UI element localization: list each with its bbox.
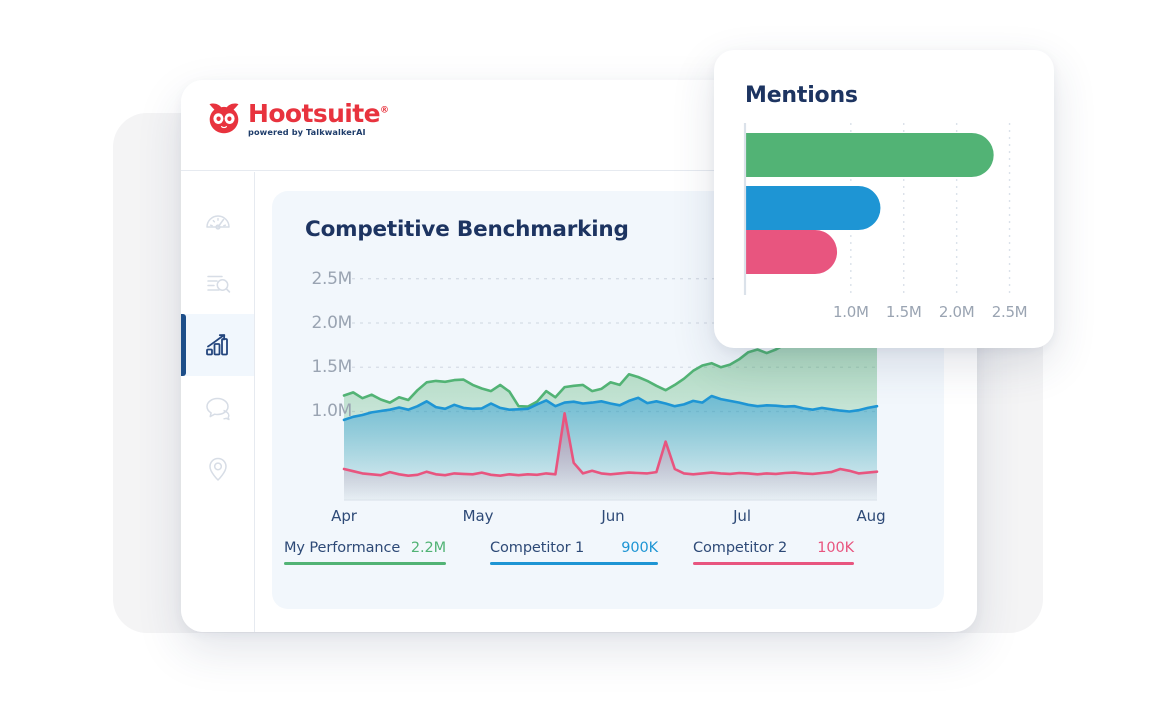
x-axis-tick-label: Aug (857, 507, 886, 525)
legend-series-value: 900K (621, 540, 658, 556)
legend-item[interactable]: Competitor 1900K (490, 540, 658, 565)
sidebar-item-messages[interactable] (181, 376, 254, 438)
legend-series-name: Competitor 1 (490, 540, 584, 556)
legend-color-bar (693, 562, 854, 565)
legend-series-name: Competitor 2 (693, 540, 787, 556)
legend-series-name: My Performance (284, 540, 400, 556)
chat-bubbles-icon (203, 392, 233, 422)
x-axis-tick-label: Jun (601, 507, 624, 525)
legend-color-bar (284, 562, 446, 565)
screenshot-root: Hootsuite® powered by TalkwalkerAI (0, 0, 1160, 710)
registered-mark-icon: ® (380, 106, 388, 116)
legend-item[interactable]: Competitor 2100K (693, 540, 854, 565)
x-axis-tick-label: May (463, 507, 494, 525)
legend-item[interactable]: My Performance2.2M (284, 540, 446, 565)
legend-series-value: 100K (817, 540, 854, 556)
sidebar-item-location[interactable] (181, 438, 254, 500)
owl-logo-icon (207, 102, 241, 135)
mentions-bars (746, 133, 994, 274)
brand-name: Hootsuite® (248, 101, 388, 126)
mentions-bar[interactable] (746, 133, 994, 177)
sidebar-item-analytics[interactable] (181, 314, 254, 376)
mentions-tick-label: 2.0M (939, 303, 975, 321)
mentions-bar-cap (746, 133, 768, 177)
mentions-bar-cap (746, 186, 768, 230)
legend-series-value: 2.2M (411, 540, 446, 556)
x-axis-tick-label: Apr (331, 507, 357, 525)
y-axis-tick-label: 1.0M (311, 401, 352, 421)
mentions-title: Mentions (745, 83, 858, 108)
mentions-bar-cap (746, 230, 768, 274)
sidebar-nav (181, 172, 255, 632)
sidebar-item-search[interactable] (181, 252, 254, 314)
y-axis-tick-label: 2.0M (311, 313, 352, 333)
sidebar-item-dashboard[interactable] (181, 190, 254, 252)
mentions-tick-label: 1.0M (833, 303, 869, 321)
mentions-panel: Mentions 1.0M1.5M2.0M2.5M (714, 50, 1054, 348)
y-axis-tick-label: 1.5M (311, 357, 352, 377)
brand-logo[interactable]: Hootsuite® powered by TalkwalkerAI (207, 101, 388, 136)
location-pin-icon (203, 454, 233, 484)
x-axis-tick-label: Jul (733, 507, 751, 525)
search-list-icon (203, 268, 233, 298)
speedometer-icon (203, 206, 233, 236)
y-axis-tick-label: 2.5M (311, 269, 352, 289)
mentions-tick-label: 2.5M (992, 303, 1028, 321)
mentions-tick-label: 1.5M (886, 303, 922, 321)
brand-tagline: powered by TalkwalkerAI (248, 128, 388, 136)
bar-chart-trend-icon (203, 330, 233, 360)
legend-color-bar (490, 562, 658, 565)
